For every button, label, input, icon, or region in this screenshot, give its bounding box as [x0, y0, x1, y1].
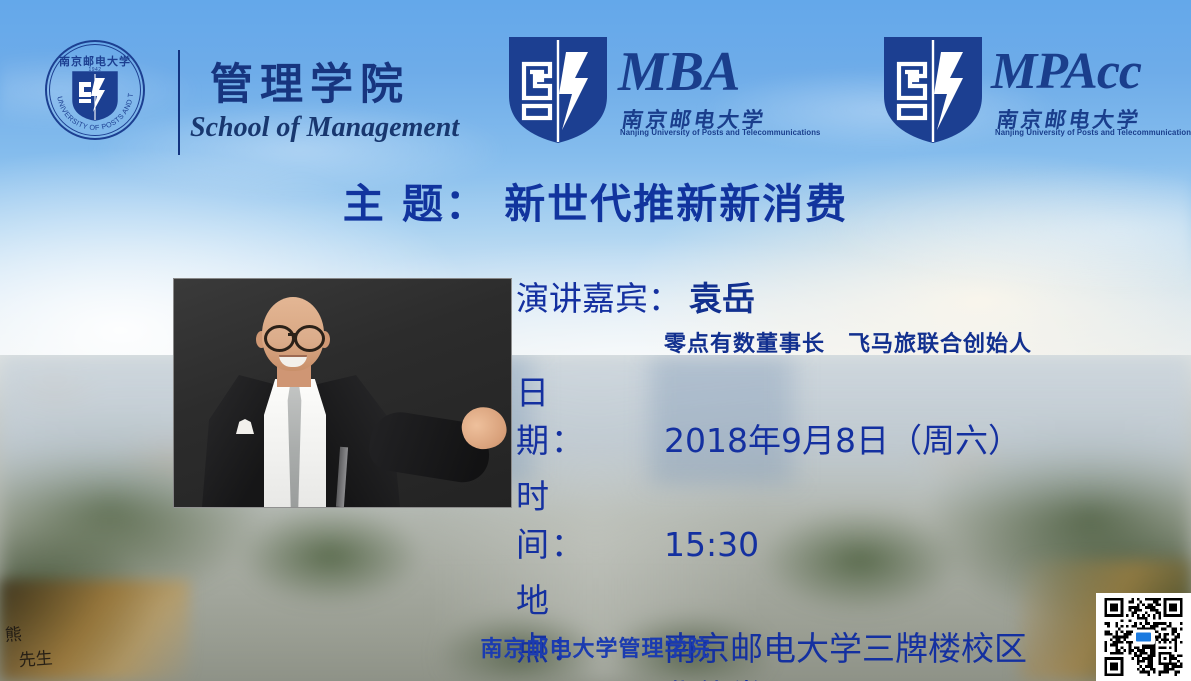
event-title: 主 题： 新世代推新新消费 — [0, 170, 1191, 230]
mba-program-logo: MBA 南京邮电大学 Nanjing University of Posts a… — [500, 28, 770, 148]
speaker-titles: 零点有数董事长 飞马旅联合创始人 — [664, 326, 1176, 358]
photo-glasses-bridge — [288, 333, 296, 336]
time-value: 15:30 — [664, 525, 759, 564]
speaker-row: 演讲嘉宾：袁岳 — [516, 272, 1176, 320]
speaker-name: 袁岳 — [689, 279, 755, 318]
time-label: 时间： — [516, 470, 664, 566]
mba-brand-text: MBA — [618, 40, 740, 104]
mpacc-university-en: Nanjing University of Posts and Telecomm… — [995, 128, 1191, 137]
njupt-seal-logo: 南京邮电大学 1942 NANJING UNIVERSITY OF POSTS … — [45, 40, 145, 140]
mpacc-brand-text: MPAcc — [991, 42, 1141, 101]
mba-shield-icon — [506, 34, 610, 146]
detail-row-time: 时间：15:30 — [516, 470, 1176, 566]
school-name-en: School of Management — [190, 112, 459, 144]
watermark-line-2: 先生 — [18, 646, 60, 674]
speaker-photo — [173, 278, 512, 508]
event-poster: 南京邮电大学 1942 NANJING UNIVERSITY OF POSTS … — [0, 0, 1191, 681]
detail-row-date: 日期：2018年9月8日（周六） — [516, 366, 1176, 462]
seal-shield-icon — [71, 70, 119, 122]
event-details: 演讲嘉宾：袁岳 零点有数董事长 飞马旅联合创始人 日期：2018年9月8日（周六… — [516, 272, 1176, 681]
date-value: 2018年9月8日（周六） — [664, 421, 1021, 460]
watermark-line-1: 熊 — [4, 620, 58, 649]
date-label: 日期： — [516, 366, 664, 462]
footer-organizer: 南京邮电大学管理学院 — [0, 631, 1191, 663]
poster-header: 南京邮电大学 1942 NANJING UNIVERSITY OF POSTS … — [0, 28, 1191, 148]
mba-university-en: Nanjing University of Posts and Telecomm… — [620, 128, 820, 137]
qr-center-logo-inner — [1136, 633, 1151, 642]
header-divider — [178, 50, 180, 155]
speaker-label: 演讲嘉宾： — [516, 279, 681, 318]
mpacc-shield-icon — [881, 34, 985, 146]
qr-code[interactable] — [1096, 593, 1191, 681]
watermark: 熊 先生 — [4, 620, 60, 679]
photo-glasses-right — [294, 325, 325, 352]
photo-glasses-left — [264, 325, 295, 352]
qr-center-logo — [1133, 630, 1155, 645]
school-name-cn: 管理学院 — [210, 50, 410, 112]
mpacc-program-logo: MPAcc 南京邮电大学 Nanjing University of Posts… — [875, 28, 1145, 148]
